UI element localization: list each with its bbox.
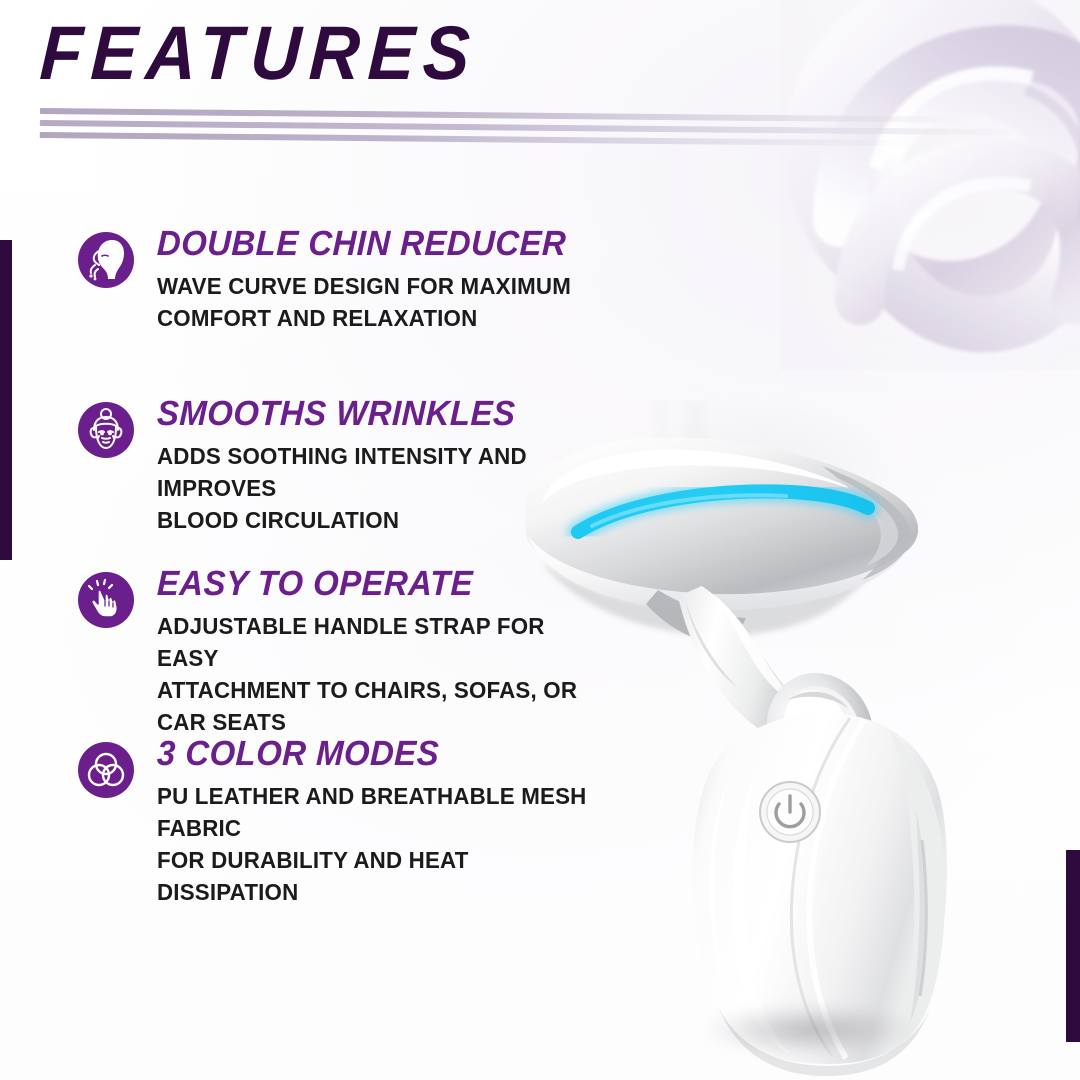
wrinkled-face-icon <box>78 402 134 458</box>
right-edge-accent-bar <box>1066 850 1080 1042</box>
feature-heading: 3 COLOR MODES <box>156 736 599 772</box>
feature-text: EASY TO OPERATE ADJUSTABLE HANDLE STRAP … <box>157 566 627 739</box>
product-drop-shadow <box>660 995 960 1065</box>
title-underline-rules <box>40 108 1050 154</box>
feature-body: ADDS SOOTHING INTENSITY AND IMPROVES BLO… <box>157 441 604 537</box>
feature-heading: DOUBLE CHIN REDUCER <box>156 226 599 262</box>
three-overlapping-circles-icon <box>78 742 134 798</box>
poster-canvas: FEATURES <box>0 0 1080 1080</box>
page-title: FEATURES <box>38 18 612 91</box>
feature-heading: SMOOTHS WRINKLES <box>156 396 599 432</box>
features-list: DOUBLE CHIN REDUCER WAVE CURVE DESIGN FO… <box>0 226 620 906</box>
feature-body: ADJUSTABLE HANDLE STRAP FOR EASY ATTACHM… <box>157 611 604 739</box>
feature-text: SMOOTHS WRINKLES ADDS SOOTHING INTENSITY… <box>157 396 627 537</box>
feature-item: 3 COLOR MODES PU LEATHER AND BREATHABLE … <box>0 736 620 906</box>
title-rule-3 <box>40 132 910 146</box>
power-button <box>760 782 820 842</box>
ribbon-knot-decoration <box>780 0 1080 370</box>
feature-body: WAVE CURVE DESIGN FOR MAXIMUM COMFORT AN… <box>157 271 604 335</box>
feature-body: PU LEATHER AND BREATHABLE MESH FABRIC FO… <box>157 781 604 909</box>
feature-text: 3 COLOR MODES PU LEATHER AND BREATHABLE … <box>157 736 627 909</box>
face-profile-chin-icon <box>78 232 134 288</box>
feature-text: DOUBLE CHIN REDUCER WAVE CURVE DESIGN FO… <box>157 226 627 335</box>
feature-item: DOUBLE CHIN REDUCER WAVE CURVE DESIGN FO… <box>0 226 620 396</box>
title-block: FEATURES <box>40 18 660 91</box>
tapping-hand-icon <box>78 572 134 628</box>
feature-item: SMOOTHS WRINKLES ADDS SOOTHING INTENSITY… <box>0 396 620 566</box>
feature-heading: EASY TO OPERATE <box>156 566 599 602</box>
feature-item: EASY TO OPERATE ADJUSTABLE HANDLE STRAP … <box>0 566 620 736</box>
product-backlight-glow <box>600 380 930 580</box>
